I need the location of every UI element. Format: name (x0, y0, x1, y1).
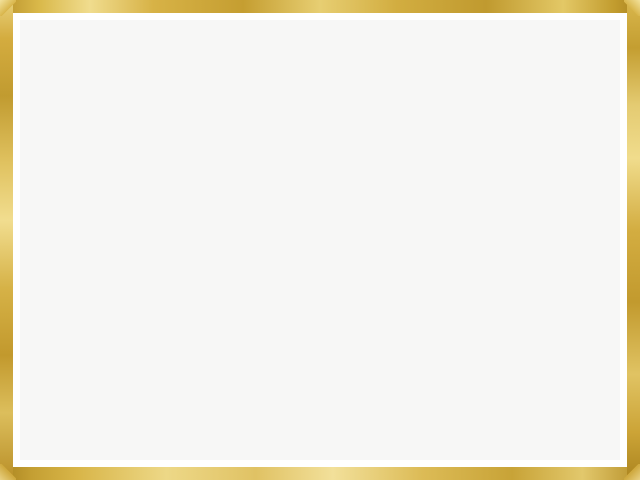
frame-border-bottom (0, 467, 640, 480)
frame-border-top (0, 0, 640, 13)
gold-certified-certificate: GOLD CERTIFIED 12-month/12,000 mile Limi… (0, 0, 640, 480)
frame-border-right (627, 0, 640, 480)
certificate-inner-card (13, 13, 627, 467)
frame-border-left (0, 0, 13, 480)
